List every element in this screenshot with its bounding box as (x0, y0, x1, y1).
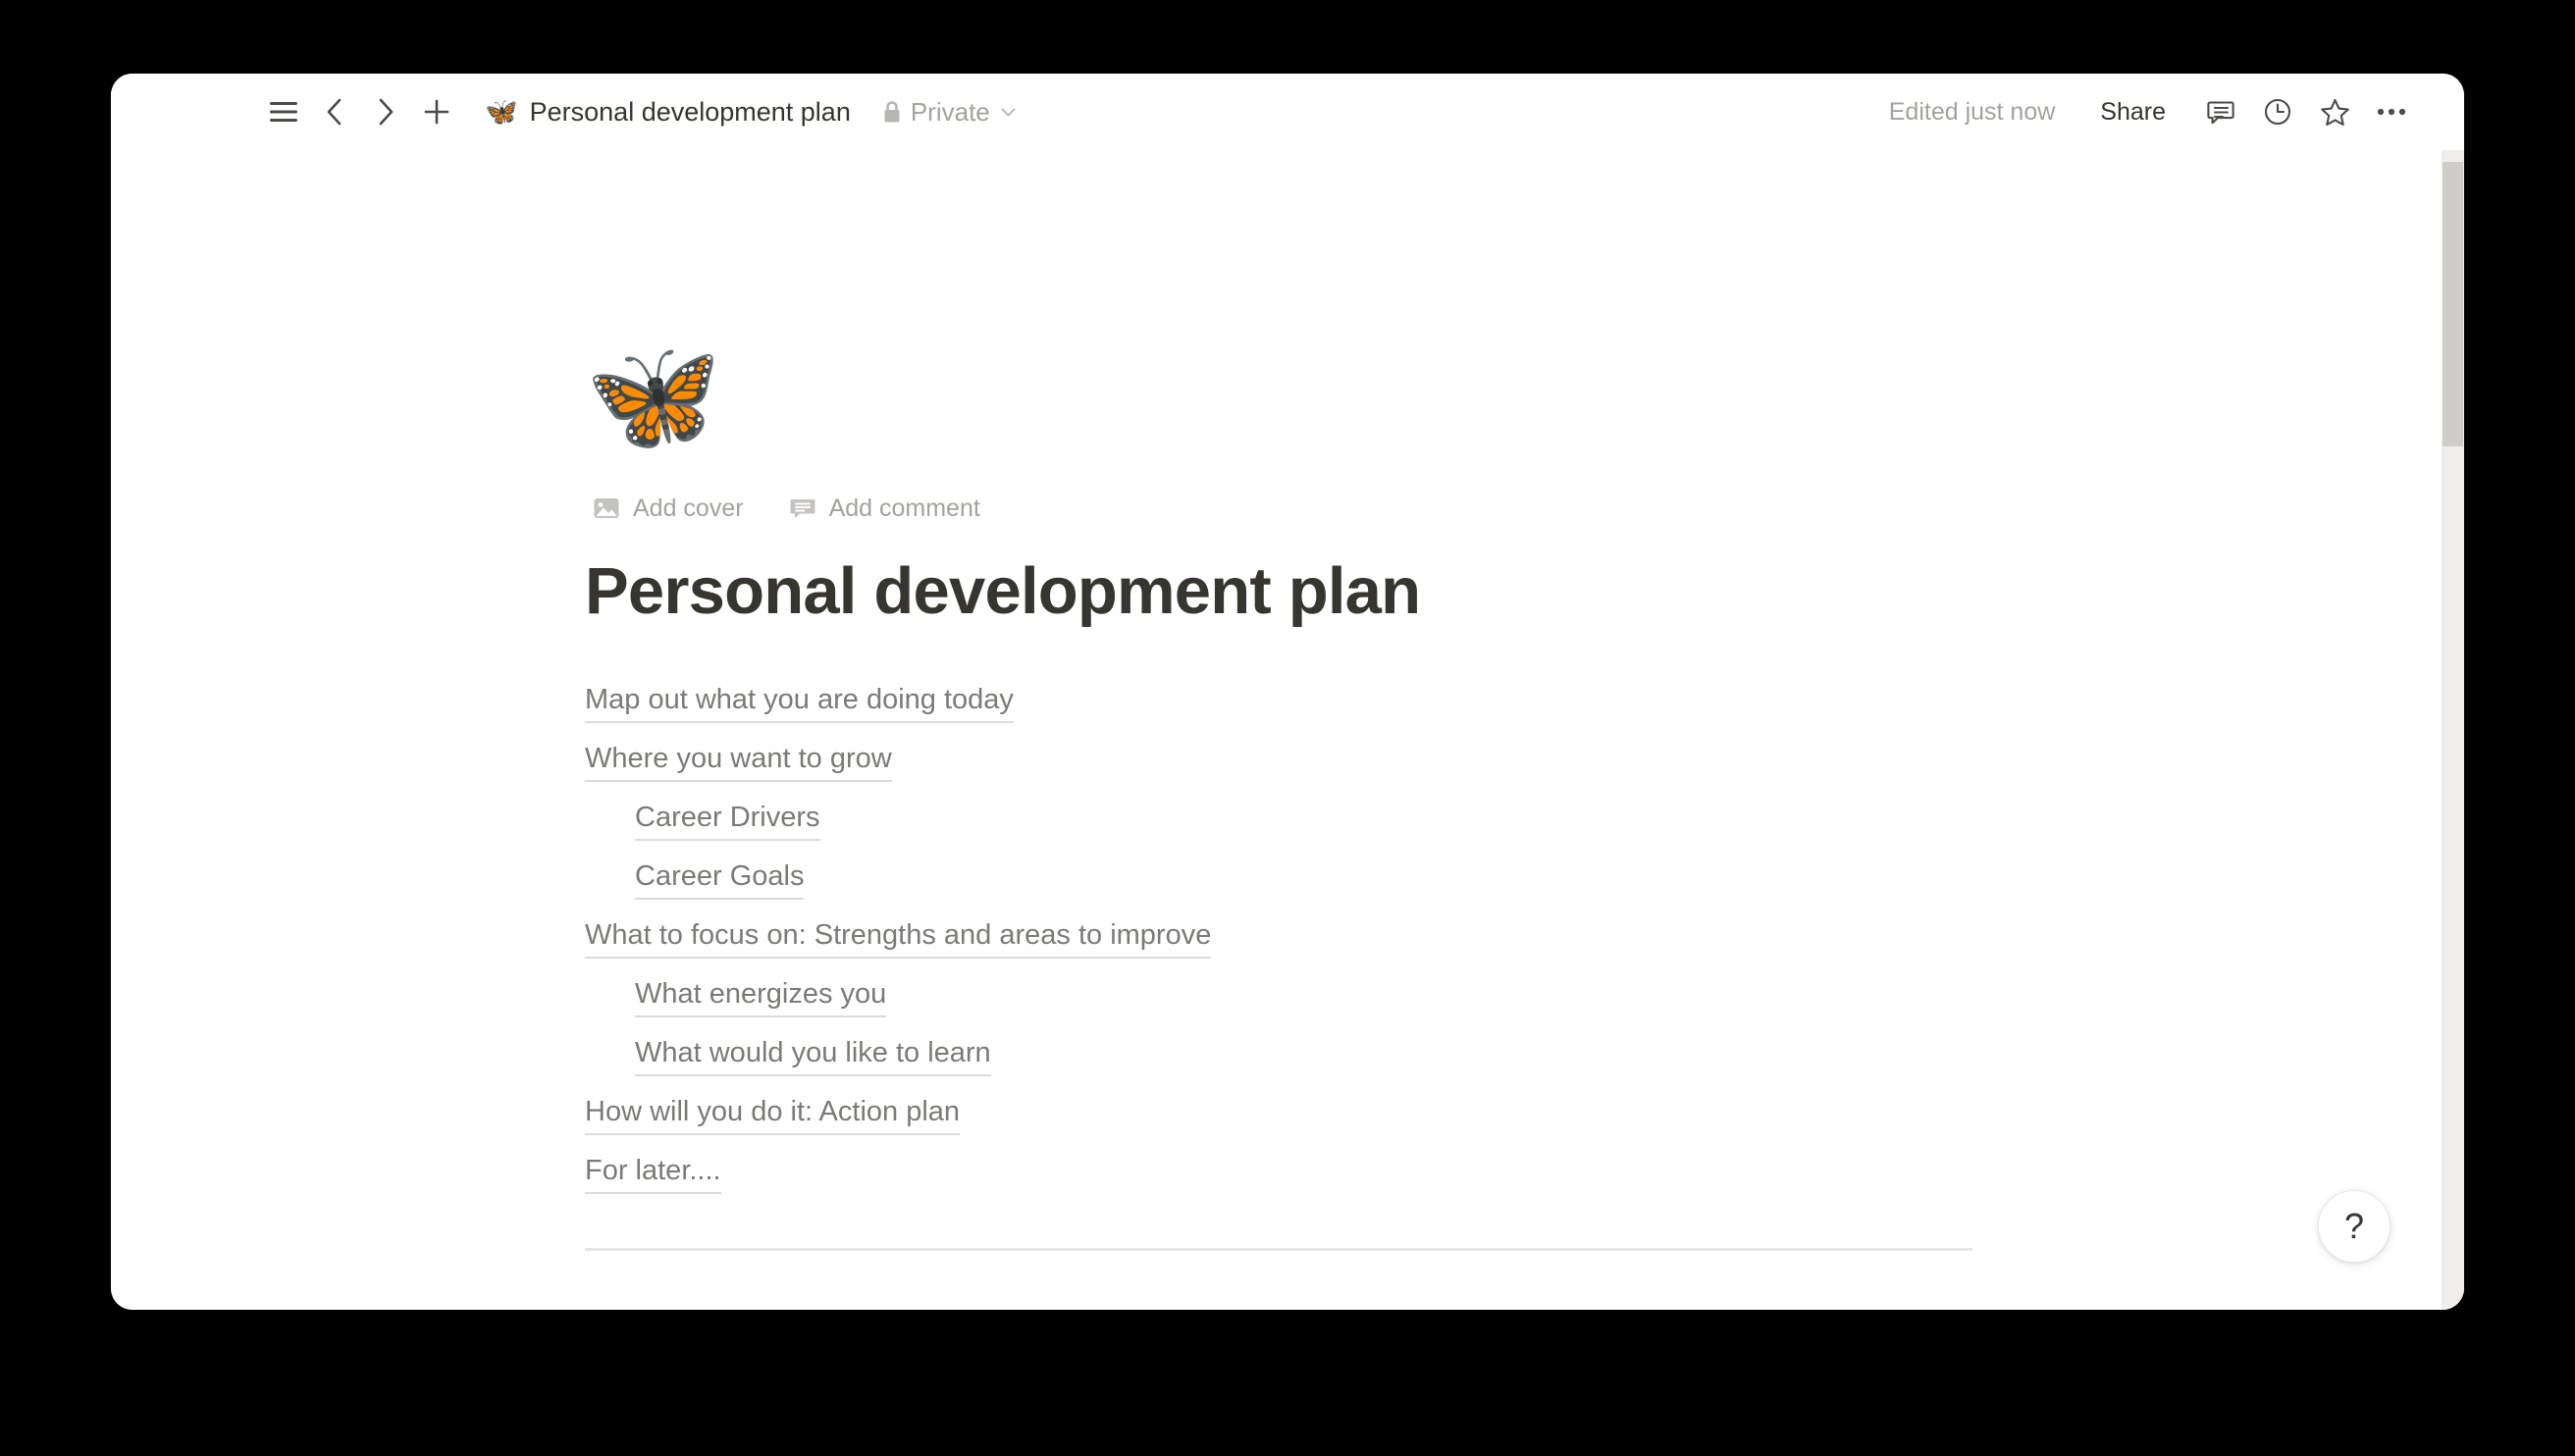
chevron-down-icon (999, 103, 1018, 122)
hamburger-menu-icon-svg (269, 101, 298, 123)
toc-link[interactable]: How will you do it: Action plan (585, 1093, 960, 1135)
app-window: 🦋 Personal development plan Private Edit… (111, 74, 2464, 1310)
clock-history-icon-svg (2263, 97, 2292, 127)
lock-icon (882, 100, 902, 125)
chevron-right-icon-svg (375, 97, 396, 127)
toc-row: What would you like to learn (585, 1026, 1978, 1085)
ellipsis-icon-svg (2376, 105, 2407, 119)
breadcrumb-title-label: Personal development plan (530, 97, 851, 128)
chevron-left-icon[interactable] (309, 86, 360, 137)
question-mark-icon: ? (2344, 1209, 2364, 1244)
page-scroll-area: 🦋 Add cover Add comment (111, 150, 2464, 1310)
toc-row: How will you do it: Action plan (585, 1085, 1978, 1144)
top-bar: 🦋 Personal development plan Private Edit… (111, 74, 2464, 150)
help-button[interactable]: ? (2318, 1190, 2391, 1263)
vertical-scrollbar-thumb[interactable] (2443, 162, 2463, 446)
toc-link[interactable]: Map out what you are doing today (585, 681, 1014, 723)
hamburger-menu-icon[interactable] (258, 86, 309, 137)
toc-link[interactable]: What energizes you (635, 975, 886, 1017)
top-bar-left-group: 🦋 Personal development plan Private (111, 86, 1026, 137)
page-content: 🦋 Add cover Add comment (585, 150, 1978, 1251)
breadcrumb-document-title[interactable]: 🦋 Personal development plan (476, 92, 860, 132)
chevron-left-icon-svg (324, 97, 345, 127)
plus-icon-svg (423, 98, 450, 126)
image-icon (593, 494, 620, 522)
toc-link[interactable]: Career Goals (635, 858, 804, 900)
table-of-contents: Map out what you are doing todayWhere yo… (585, 673, 1978, 1203)
privacy-selector[interactable]: Private (873, 92, 1026, 132)
plus-icon[interactable] (411, 86, 462, 137)
comment-bubble-icon-svg (2206, 97, 2235, 127)
page-icon-butterfly[interactable]: 🦋 (585, 341, 721, 451)
toc-row: Where you want to grow (585, 732, 1978, 791)
content-divider (585, 1248, 1972, 1251)
toc-link[interactable]: Where you want to grow (585, 740, 892, 782)
toc-row: Career Drivers (585, 791, 1978, 850)
butterfly-icon: 🦋 (485, 99, 518, 126)
star-outline-icon[interactable] (2309, 86, 2360, 137)
add-cover-button[interactable]: Add cover (587, 491, 750, 527)
toc-row: Map out what you are doing today (585, 673, 1978, 732)
add-comment-label: Add comment (829, 494, 980, 523)
add-comment-button[interactable]: Add comment (783, 491, 986, 527)
toc-row: Career Goals (585, 850, 1978, 909)
star-outline-icon-svg (2320, 97, 2350, 128)
vertical-scrollbar-track[interactable] (2442, 150, 2464, 1310)
comment-bubble-icon (789, 494, 816, 522)
toc-link[interactable]: For later.... (585, 1152, 721, 1194)
share-button[interactable]: Share (2086, 90, 2180, 134)
top-bar-right-group: Edited just now Share (1877, 86, 2464, 137)
toc-link[interactable]: Career Drivers (635, 799, 820, 841)
page-action-row: Add cover Add comment (587, 489, 1978, 528)
edited-status[interactable]: Edited just now (1877, 92, 2068, 132)
toc-row: What energizes you (585, 967, 1978, 1026)
privacy-label: Private (911, 97, 990, 128)
comment-bubble-icon[interactable] (2195, 86, 2246, 137)
toc-row: What to focus on: Strengths and areas to… (585, 909, 1978, 967)
toc-link[interactable]: What to focus on: Strengths and areas to… (585, 916, 1211, 959)
ellipsis-icon[interactable] (2366, 86, 2417, 137)
toc-row: For later.... (585, 1144, 1978, 1203)
toc-link[interactable]: What would you like to learn (635, 1034, 991, 1076)
chevron-right-icon[interactable] (360, 86, 411, 137)
page-title[interactable]: Personal development plan (585, 553, 1978, 629)
clock-history-icon[interactable] (2252, 86, 2303, 137)
add-cover-label: Add cover (633, 494, 744, 523)
